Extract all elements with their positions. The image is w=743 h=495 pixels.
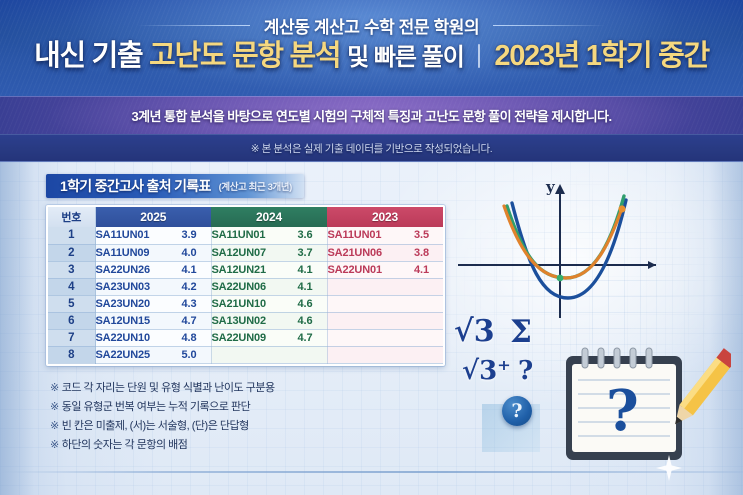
parabola-graph: y [450,170,690,330]
item-score: 4.3 [182,298,211,310]
item-code: SA22UN25 [96,349,150,361]
cell-2023 [327,312,443,329]
item-code: SA22UN06 [212,281,266,293]
cell-2023 [327,329,443,346]
record-table: 번호 2025 2024 2023 1SA11UN013.9SA11UN013.… [48,207,443,364]
footnote-mark: ※ [50,382,59,394]
question-badge-icon: ? [502,396,532,426]
item-code: SA23UN20 [96,298,150,310]
item-score: 4.6 [298,315,327,327]
item-code: SA11UN01 [212,229,266,241]
item-code: SA12UN07 [212,247,266,259]
item-code: SA22UN26 [96,264,150,276]
item-code: SA12UN21 [212,264,266,276]
vertex-point-green [557,275,564,282]
tagline-rule-left [138,25,250,26]
column-header-no: 번호 [48,207,95,227]
row-number: 1 [48,227,95,244]
top-note-band: ※ 본 분석은 실제 기출 데이터를 기반으로 작성되었습니다. [0,134,743,162]
headline-divider [478,44,480,68]
y-axis-arrow [555,184,565,194]
row-number: 3 [48,261,95,278]
item-code: SA12UN15 [96,315,150,327]
section-title-text: 1학기 중간고사 출처 기록표 [60,176,211,196]
cell-2025: SA11UN094.0 [95,244,211,261]
headline-part-3: 및 빠른 풀이 [347,44,464,71]
item-code: SA21UN10 [212,298,266,310]
footnote-mark: ※ [50,401,59,413]
item-code: SA23UN03 [96,281,150,293]
item-score: 3.5 [414,229,443,241]
bottom-divider [0,471,743,473]
cell-2024: SA11UN013.6 [211,227,327,244]
table-header-row: 번호 2025 2024 2023 [48,207,443,227]
infographic-canvas: 계산동 계산고 수학 전문 학원의 내신 기출 고난도 문항 분석 및 빠른 풀… [0,0,743,495]
notepad-question-mark: ? [606,378,639,444]
tagline-row: 계산동 계산고 수학 전문 학원의 [0,12,743,38]
cell-2023 [327,346,443,363]
row-number: 2 [48,244,95,261]
section-subtitle-text: (계산고 최근 3개년) [219,179,292,193]
cell-2025: SA22UN104.8 [95,329,211,346]
footnote-item: ※동일 유형군 번복 여부는 누적 기록으로 판단 [50,399,450,416]
headline-part-2: 고난도 문항 분석 [149,40,340,72]
table-row: 1SA11UN013.9SA11UN013.6SA11UN013.5 [48,227,443,244]
footnote-mark: ※ [50,439,59,451]
row-number: 4 [48,278,95,295]
sqrt3-plus-symbol: √3⁺ [462,356,511,386]
item-score: 4.8 [182,332,211,344]
cell-2024: SA21UN104.6 [211,295,327,312]
cell-2023: SA21UN063.8 [327,244,443,261]
cell-2024: SA12UN214.1 [211,261,327,278]
record-table-container: 번호 2025 2024 2023 1SA11UN013.9SA11UN013.… [46,205,445,366]
item-score: 3.7 [298,247,327,259]
question-symbol: ? [518,356,533,386]
cell-2024: SA22UN094.7 [211,329,327,346]
item-code: SA22UN10 [96,332,150,344]
footnote-item: ※코드 각 자리는 단원 및 유형 식별과 난이도 구분용 [50,380,450,397]
sqrt3-symbol: √3 [454,314,495,349]
sigma-symbol: Σ [510,314,532,350]
cell-2023 [327,295,443,312]
cell-2024 [211,346,327,363]
item-score: 4.1 [298,281,327,293]
cell-2023 [327,278,443,295]
item-score: 4.7 [182,315,211,327]
item-score: 4.1 [298,264,327,276]
pencil-body [680,356,731,415]
header-banner: 계산동 계산고 수학 전문 학원의 내신 기출 고난도 문항 분석 및 빠른 풀… [0,0,743,96]
top-note-text: ※ 본 분석은 실제 기출 데이터를 기반으로 작성되었습니다. [251,141,493,156]
cell-2025: SA22UN264.1 [95,261,211,278]
cell-2025: SA22UN255.0 [95,346,211,363]
item-score: 3.6 [298,229,327,241]
column-header-2025: 2025 [95,207,211,227]
cell-2025: SA12UN154.7 [95,312,211,329]
item-score: 3.9 [182,229,211,241]
item-code: SA11UN01 [328,229,382,241]
main-headline: 내신 기출 고난도 문항 분석 및 빠른 풀이 2023년 1학기 중간 [0,42,743,71]
tagline-rule-right [493,25,605,26]
x-axis-arrow [648,261,656,269]
table-row: 8SA22UN255.0 [48,346,443,363]
cell-2025: SA23UN034.2 [95,278,211,295]
math-illustration: y √3 Σ √3⁺ ? ? [448,168,743,468]
item-code: SA22UN01 [328,264,382,276]
item-score: 4.1 [182,264,211,276]
row-number: 7 [48,329,95,346]
row-number: 6 [48,312,95,329]
item-score: 4.7 [298,332,327,344]
row-number: 5 [48,295,95,312]
headline-part-4: 2023년 1학기 중간 [494,40,709,72]
cell-2024: SA12UN073.7 [211,244,327,261]
table-row: 2SA11UN094.0SA12UN073.7SA21UN063.8 [48,244,443,261]
footnote-text: 하단의 숫자는 각 문항의 배점 [62,439,188,451]
row-number: 8 [48,346,95,363]
subtitle-band: 3계년 통합 분석을 바탕으로 연도별 시험의 구체적 특징과 고난도 문항 풀… [0,96,743,134]
item-score: 4.1 [414,264,443,276]
item-score: 4.2 [182,281,211,293]
table-row: 4SA23UN034.2SA22UN064.1 [48,278,443,295]
column-header-2023: 2023 [327,207,443,227]
table-row: 7SA22UN104.8SA22UN094.7 [48,329,443,346]
notepad-illustration: ? [556,340,731,470]
column-header-2024: 2024 [211,207,327,227]
y-axis-label: y [545,178,556,196]
footnote-text: 빈 칸은 미출제, (서)는 서술형, (단)은 단답형 [62,420,249,432]
footnote-mark: ※ [50,420,59,432]
cell-2023: SA11UN013.5 [327,227,443,244]
footnote-item: ※하단의 숫자는 각 문항의 배점 [50,437,450,454]
footnote-list: ※코드 각 자리는 단원 및 유형 식별과 난이도 구분용※동일 유형군 번복 … [50,380,450,454]
table-head: 번호 2025 2024 2023 [48,207,443,227]
table-body: 1SA11UN013.9SA11UN013.6SA11UN013.52SA11U… [48,227,443,363]
section-title-bar: 1학기 중간고사 출처 기록표 (계산고 최근 3개년) [46,174,304,198]
endpoint-point-orange [618,205,625,212]
cell-2024: SA13UN024.6 [211,312,327,329]
cell-2025: SA23UN204.3 [95,295,211,312]
item-code: SA11UN09 [96,247,150,259]
footnote-item: ※빈 칸은 미출제, (서)는 서술형, (단)은 단답형 [50,418,450,435]
item-code: SA22UN09 [212,332,266,344]
cell-2025: SA11UN013.9 [95,227,211,244]
tagline-text: 계산동 계산고 수학 전문 학원의 [264,13,479,38]
item-score: 3.8 [414,247,443,259]
curve-navy [512,200,626,298]
item-code: SA13UN02 [212,315,266,327]
item-code: SA11UN01 [96,229,150,241]
item-score: 4.6 [298,298,327,310]
cell-2023: SA22UN014.1 [327,261,443,278]
table-row: 3SA22UN264.1SA12UN214.1SA22UN014.1 [48,261,443,278]
item-code: SA21UN06 [328,247,382,259]
subtitle-text: 3계년 통합 분석을 바탕으로 연도별 시험의 구체적 특징과 고난도 문항 풀… [131,106,611,125]
footnote-text: 코드 각 자리는 단원 및 유형 식별과 난이도 구분용 [62,382,275,394]
item-score: 4.0 [182,247,211,259]
cell-2024: SA22UN064.1 [211,278,327,295]
table-row: 5SA23UN204.3SA21UN104.6 [48,295,443,312]
headline-part-1: 내신 기출 [34,40,142,72]
table-row: 6SA12UN154.7SA13UN024.6 [48,312,443,329]
footnote-text: 동일 유형군 번복 여부는 누적 기록으로 판단 [62,401,251,413]
item-score: 5.0 [182,349,211,361]
